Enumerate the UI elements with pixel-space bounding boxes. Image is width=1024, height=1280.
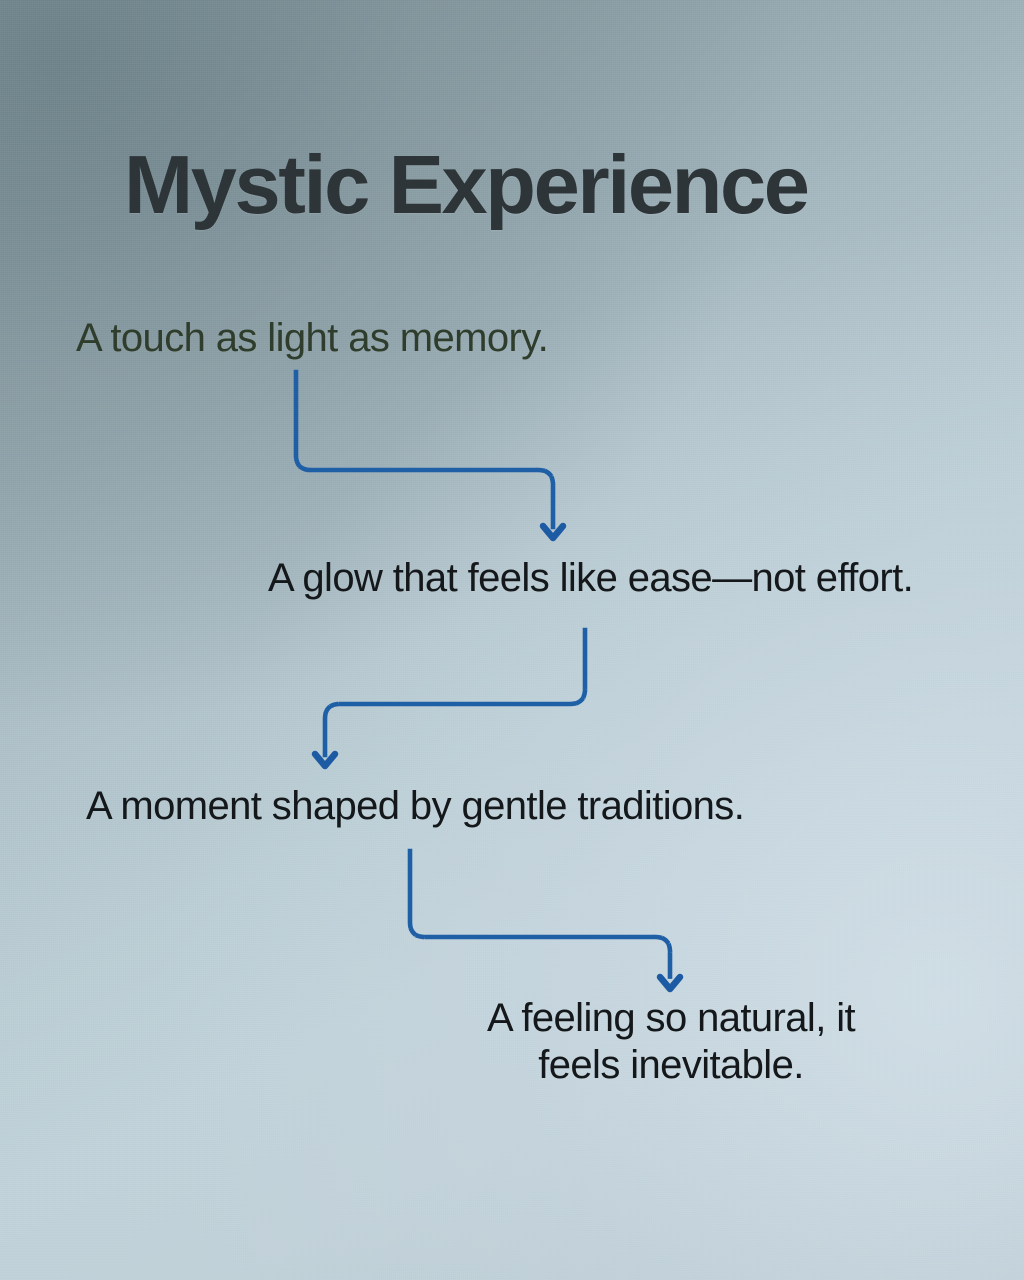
flow-step-3: A moment shaped by gentle traditions. xyxy=(86,783,744,830)
connector-1-path xyxy=(296,372,553,527)
flow-step-4-line-2: feels inevitable. xyxy=(446,1042,896,1089)
page-title: Mystic Experience xyxy=(124,143,944,226)
connector-2-path xyxy=(325,630,585,755)
flow-step-4-line-1: A feeling so natural, it xyxy=(487,996,855,1040)
flow-step-4: A feeling so natural, it feels inevitabl… xyxy=(446,995,896,1089)
connector-2-arrowhead-icon xyxy=(315,754,335,766)
flow-step-2: A glow that feels like ease—not effort. xyxy=(268,555,913,602)
connector-1-arrowhead-icon xyxy=(543,526,563,538)
flow-step-1: A touch as light as memory. xyxy=(76,315,548,362)
connector-3-path xyxy=(410,851,670,978)
poster-canvas: Mystic Experience A touch as light as me… xyxy=(0,0,1024,1280)
connector-3-arrowhead-icon xyxy=(660,977,680,989)
